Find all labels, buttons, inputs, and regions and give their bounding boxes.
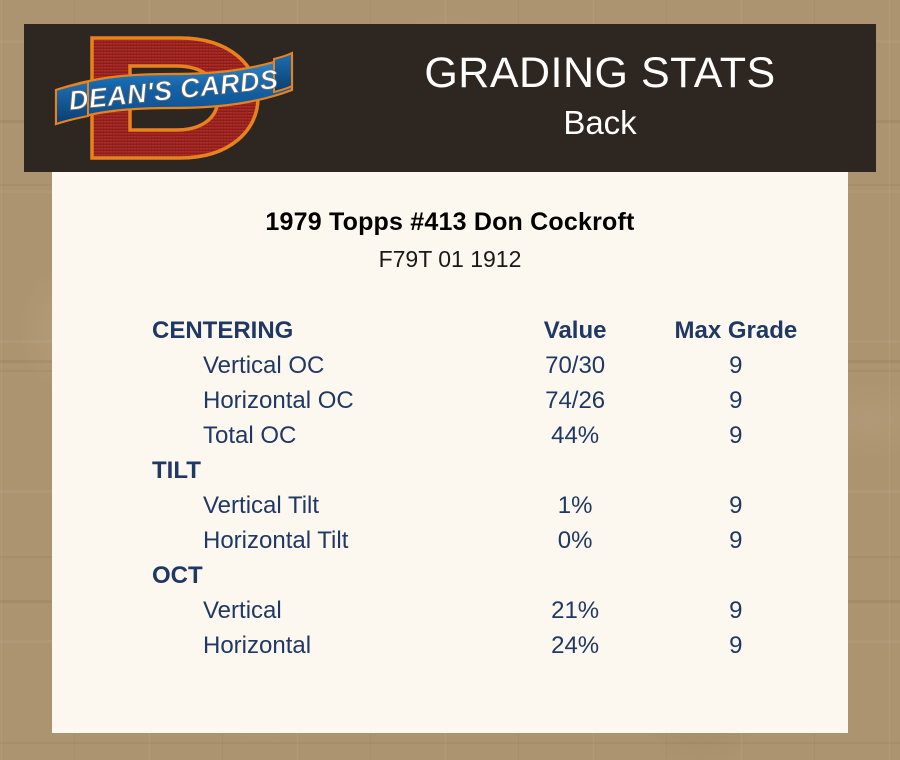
section-header-row: CENTERINGValueMax Grade — [152, 313, 822, 348]
page-title: GRADING STATS — [424, 51, 775, 96]
stats-table-body: CENTERINGValueMax GradeVertical OC70/309… — [152, 313, 822, 663]
content-panel: 1979 Topps #413 Don Cockroft F79T 01 191… — [52, 172, 848, 733]
header-title-group: GRADING STATS Back — [324, 24, 876, 172]
stat-label: Horizontal — [152, 628, 501, 663]
stat-max-grade: 9 — [650, 348, 822, 383]
column-header-max-grade — [650, 558, 822, 593]
table-row: Vertical OC70/309 — [152, 348, 822, 383]
section-header-row: TILT — [152, 453, 822, 488]
stat-label: Vertical OC — [152, 348, 501, 383]
stats-table: CENTERINGValueMax GradeVertical OC70/309… — [152, 313, 822, 663]
table-row: Total OC44%9 — [152, 418, 822, 453]
page-subtitle: Back — [563, 102, 636, 145]
card-serial: F79T 01 1912 — [52, 246, 848, 273]
section-name: CENTERING — [152, 313, 501, 348]
section-header-row: OCT — [152, 558, 822, 593]
stat-label: Vertical Tilt — [152, 488, 501, 523]
stat-value: 21% — [501, 593, 650, 628]
stat-value: 70/30 — [501, 348, 650, 383]
table-row: Vertical21%9 — [152, 593, 822, 628]
column-header-value: Value — [501, 313, 650, 348]
grading-stats-table: CENTERINGValueMax GradeVertical OC70/309… — [52, 313, 848, 663]
stat-label: Total OC — [152, 418, 501, 453]
stat-max-grade: 9 — [650, 383, 822, 418]
logo-icon: DEAN'S CARDS — [52, 28, 322, 168]
stat-value: 74/26 — [501, 383, 650, 418]
table-row: Horizontal24%9 — [152, 628, 822, 663]
column-header-max-grade: Max Grade — [650, 313, 822, 348]
stat-value: 24% — [501, 628, 650, 663]
stat-value: 1% — [501, 488, 650, 523]
stat-max-grade: 9 — [650, 418, 822, 453]
section-name: TILT — [152, 453, 501, 488]
stat-value: 0% — [501, 523, 650, 558]
stat-label: Vertical — [152, 593, 501, 628]
table-row: Horizontal Tilt0%9 — [152, 523, 822, 558]
stat-label: Horizontal OC — [152, 383, 501, 418]
card-title: 1979 Topps #413 Don Cockroft — [52, 208, 848, 237]
column-header-value — [501, 453, 650, 488]
stat-max-grade: 9 — [650, 523, 822, 558]
table-row: Horizontal OC74/269 — [152, 383, 822, 418]
column-header-value — [501, 558, 650, 593]
header-bar: DEAN'S CARDS DEAN'S CARDS GRADING STATS … — [24, 24, 876, 172]
stat-max-grade: 9 — [650, 593, 822, 628]
deans-cards-logo[interactable]: DEAN'S CARDS DEAN'S CARDS — [52, 28, 322, 168]
stat-value: 44% — [501, 418, 650, 453]
stat-max-grade: 9 — [650, 628, 822, 663]
stat-max-grade: 9 — [650, 488, 822, 523]
section-name: OCT — [152, 558, 501, 593]
column-header-max-grade — [650, 453, 822, 488]
table-row: Vertical Tilt1%9 — [152, 488, 822, 523]
stat-label: Horizontal Tilt — [152, 523, 501, 558]
